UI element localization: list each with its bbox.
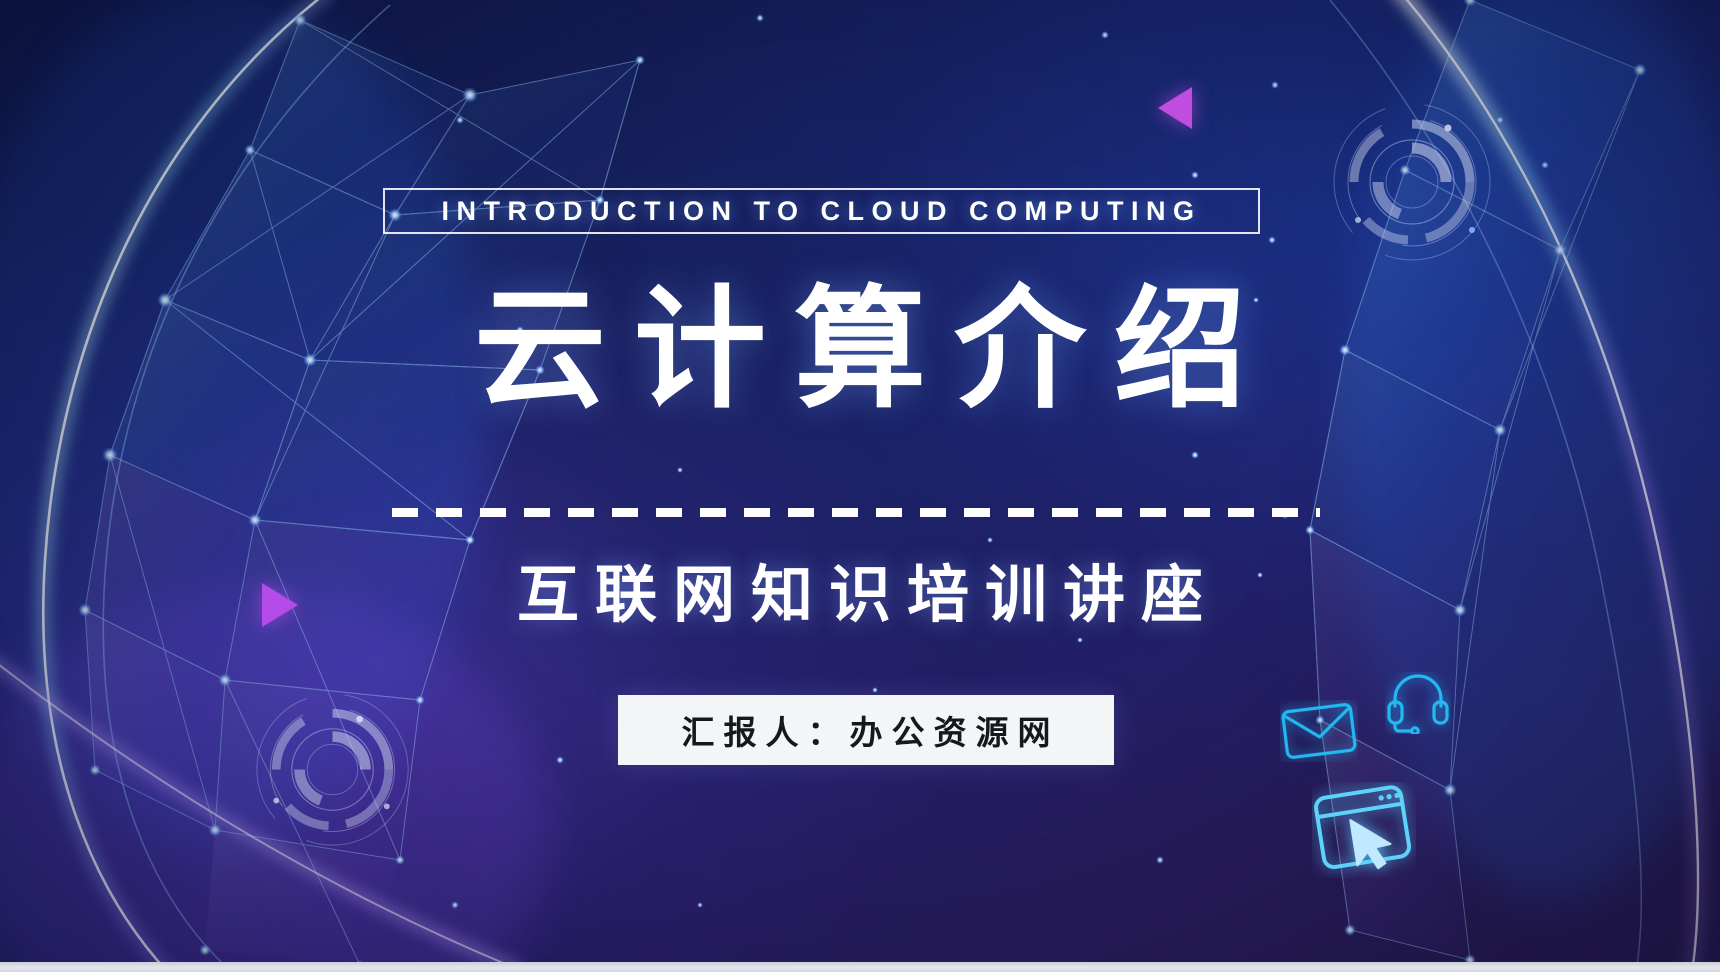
title-content: INTRODUCTION TO CLOUD COMPUTING 云计算介绍 互联… xyxy=(0,0,1720,972)
english-kicker-text: INTRODUCTION TO CLOUD COMPUTING xyxy=(442,196,1202,227)
presenter-box: 汇报人：办公资源网 xyxy=(618,695,1114,765)
english-kicker-box: INTRODUCTION TO CLOUD COMPUTING xyxy=(383,188,1260,234)
bottom-edge-bar xyxy=(0,962,1720,972)
title-slide: INTRODUCTION TO CLOUD COMPUTING 云计算介绍 互联… xyxy=(0,0,1720,972)
page-title: 云计算介绍 xyxy=(0,268,1720,432)
page-subtitle: 互联网知识培训讲座 xyxy=(0,556,1720,634)
dashed-divider xyxy=(392,508,1320,517)
presenter-text: 汇报人：办公资源网 xyxy=(673,706,1060,754)
